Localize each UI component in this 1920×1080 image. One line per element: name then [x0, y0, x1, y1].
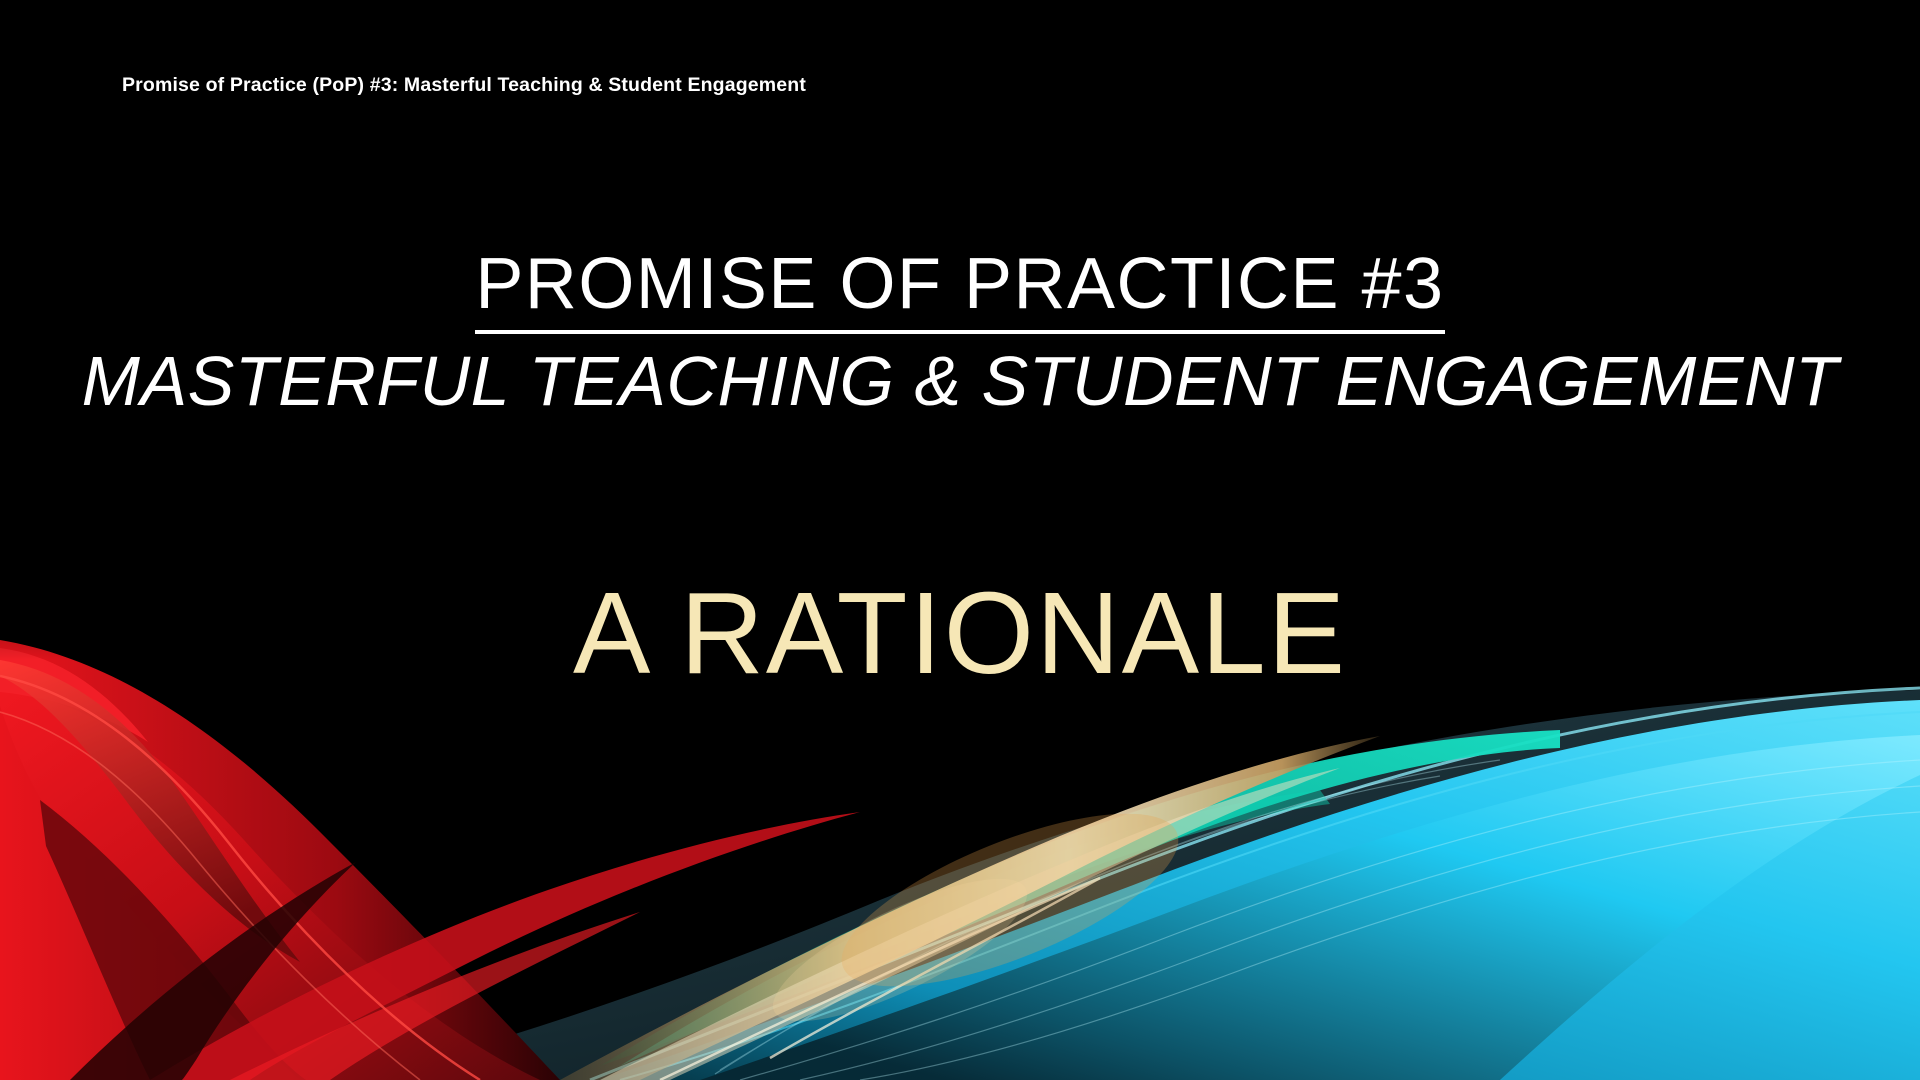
slide-title-line-1-text: PROMISE OF PRACTICE #3 — [475, 244, 1444, 334]
abstract-ribbon-waves-artwork — [0, 0, 1920, 1080]
slide-subtitle: A RATIONALE — [0, 575, 1920, 691]
slide-title-line-1: PROMISE OF PRACTICE #3 — [0, 248, 1920, 324]
slide-title-block: PROMISE OF PRACTICE #3 MASTERFUL TEACHIN… — [0, 248, 1920, 416]
slide-header-label: Promise of Practice (PoP) #3: Masterful … — [122, 74, 806, 97]
presentation-slide: Promise of Practice (PoP) #3: Masterful … — [0, 0, 1920, 1080]
slide-title-line-2: MASTERFUL TEACHING & STUDENT ENGAGEMENT — [0, 346, 1920, 416]
